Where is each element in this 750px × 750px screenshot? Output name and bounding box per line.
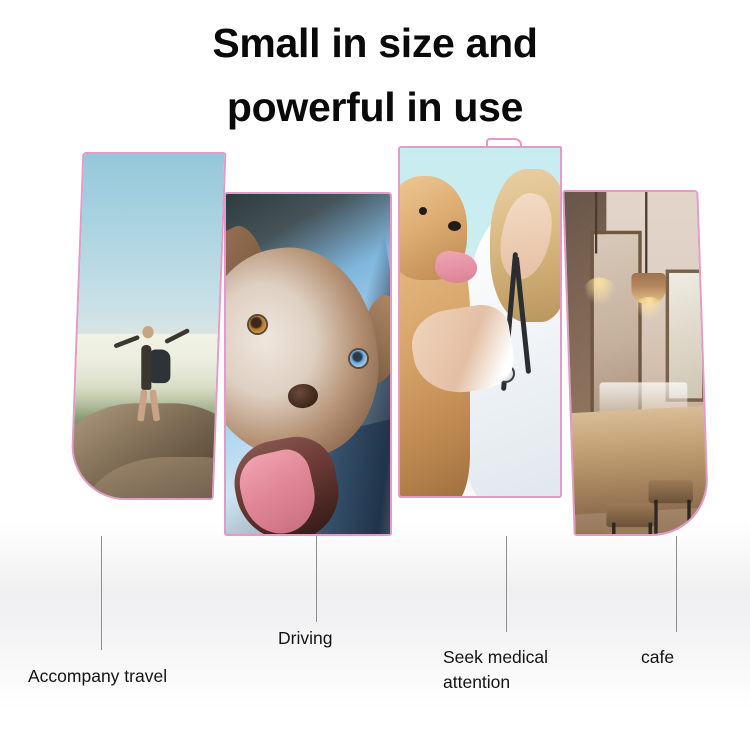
photo-driving	[226, 194, 390, 534]
caption-driving: Driving	[278, 626, 332, 651]
page-title: Small in size and powerful in use	[0, 12, 750, 139]
cafe-stool-3	[562, 531, 606, 536]
pendant-lamp-glow-2	[634, 297, 663, 320]
photo-accompany-travel	[70, 152, 227, 500]
cafe-stool-leg-2b	[648, 523, 651, 536]
page-title-line-2: powerful in use	[0, 76, 750, 140]
photo-panel-cafe[interactable]	[562, 190, 709, 536]
cafe-stool-leg-2a	[612, 523, 615, 536]
photo-cafe	[562, 190, 709, 536]
photo-panel-driving[interactable]	[224, 192, 392, 536]
leader-line-seek-medical-attention	[506, 536, 507, 632]
photo-panel-accompany-travel[interactable]	[70, 152, 227, 500]
leader-line-cafe	[676, 536, 677, 632]
caption-cafe: cafe	[641, 645, 674, 670]
promo-page: Small in size and powerful in use	[0, 0, 750, 750]
caption-seek-medical-attention: Seek medical attention	[443, 645, 548, 696]
pendant-lamp-glow-1	[583, 277, 615, 304]
photo-panel-seek-medical-attention[interactable]	[398, 146, 562, 498]
pendant-lamp-cord-2	[645, 190, 647, 277]
cafe-stool-leg-1a	[654, 499, 657, 536]
leader-line-driving	[316, 536, 317, 622]
hiker-torso	[142, 345, 152, 390]
cafe-stool-leg-1b	[687, 499, 690, 536]
photo-seek-medical-attention	[400, 148, 560, 496]
leader-line-accompany-travel	[101, 536, 102, 650]
pendant-lamp-cord-1	[595, 190, 597, 254]
page-title-line-1: Small in size and	[0, 12, 750, 76]
caption-accompany-travel: Accompany travel	[28, 664, 167, 689]
